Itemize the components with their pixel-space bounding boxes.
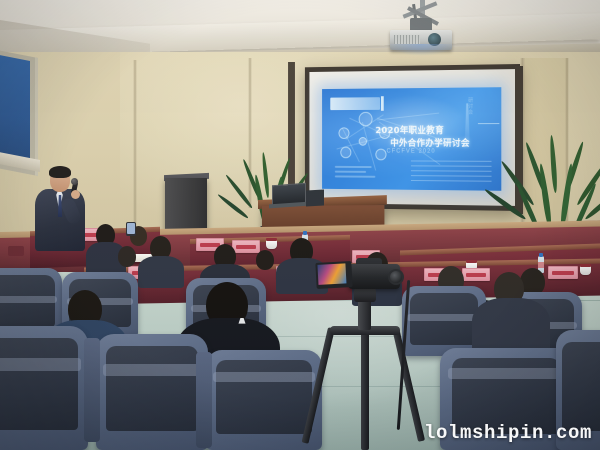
standing-speaker [30,168,94,254]
projection-screen: 研讨会 2020年职业教育 中外合作办学研讨会 CFCFVE 2020 [305,64,520,211]
ceiling-projector [384,0,464,58]
camera-lcd-screen [317,263,346,284]
seat-band [0,358,81,370]
seat-band [407,314,481,321]
seat-cushion [0,338,78,430]
window-blind [0,54,30,169]
auditorium-seat-front[interactable] [96,334,208,450]
wall-seam [133,60,137,240]
microphone-head-icon [71,178,78,185]
projector-vent [394,35,420,44]
seat-band [213,372,315,382]
photo-scene: 研讨会 2020年职业教育 中外合作办学研讨会 CFCFVE 2020 [0,0,600,450]
camera-tripod [318,276,414,450]
teacup [266,240,277,249]
teacup [580,266,591,275]
name-placard[interactable] [462,268,490,281]
audience-head [256,250,274,270]
seat-band [103,364,202,376]
watermark: lolmshipin.com [424,422,592,444]
auditorium-seat-front[interactable] [0,326,88,450]
name-placard[interactable] [232,240,260,253]
tripod-head [354,288,376,302]
seat-cushion [106,346,198,432]
phone-screen [127,223,135,234]
seat-cushion [562,342,600,431]
audience-head [118,246,136,267]
podium-equipment-box [306,190,324,207]
slide-projection-hotspot [357,93,470,158]
projector-light-glow [386,44,456,56]
presentation-slide: 研讨会 2020年职业教育 中外合作办学研讨会 CFCFVE 2020 [322,87,501,191]
seat-band [0,296,57,303]
slide-rule [478,123,499,124]
tripod-center-column [358,298,371,330]
tripod-leg [361,328,369,450]
audience-body [138,256,184,288]
name-placard[interactable] [548,266,578,279]
seat-armrest [196,352,212,448]
seat-armrest [84,338,100,442]
table-corner [8,246,24,256]
screen-surface: 研讨会 2020年职业教育 中外合作办学研讨会 CFCFVE 2020 [309,69,515,206]
speaker-hand [71,190,80,199]
seat-band [448,368,564,378]
speaker-hair [49,166,71,178]
camera-lens-icon [388,269,404,285]
camera-lcd-frame [315,261,352,289]
